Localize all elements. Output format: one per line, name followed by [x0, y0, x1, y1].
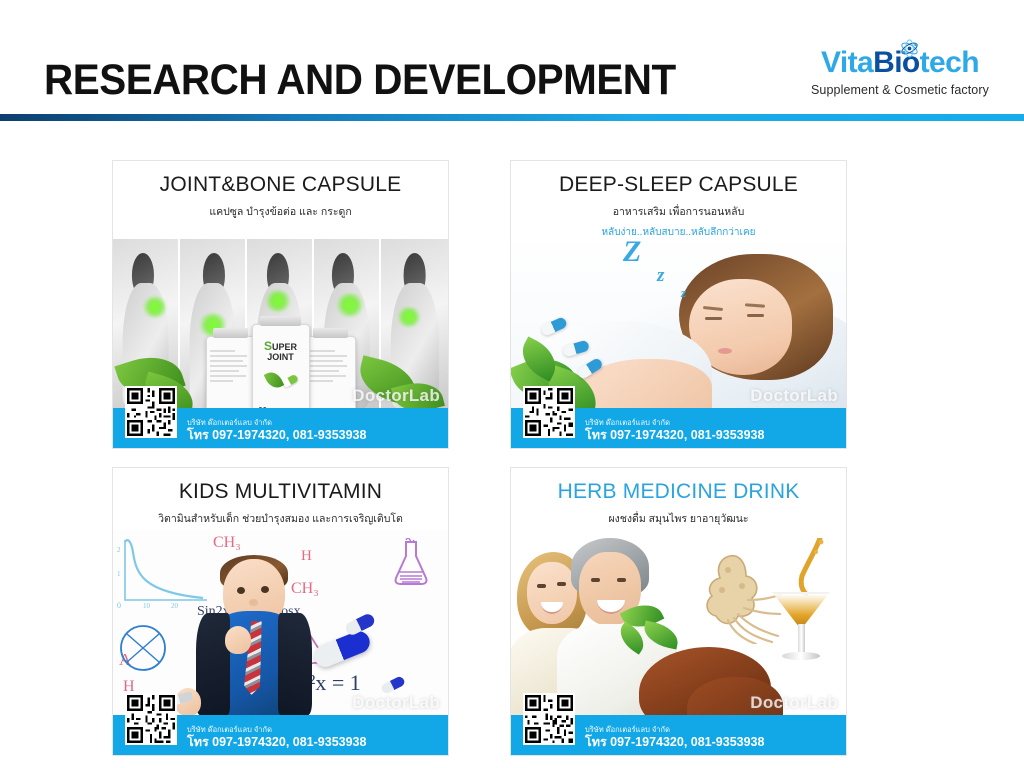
brand-wordmark: VitaBiotech: [800, 48, 1000, 78]
glass-stem: [798, 624, 805, 654]
svg-text:10: 10: [143, 602, 151, 610]
header-divider-rule: [0, 114, 1024, 121]
card-title: KIDS MULTIVITAMIN: [113, 480, 448, 504]
svg-text:20: 20: [171, 602, 179, 610]
doctorlab-watermark: DoctorLab: [352, 693, 440, 713]
svg-text:1: 1: [117, 570, 121, 578]
product-card-grid: SUPER JOINT 60 ALL NATURAL JOINT&BONE CA…: [0, 160, 1024, 760]
footer-company-name: บริษัท ด๊อกเตอร์แลบ จำกัด: [187, 419, 366, 427]
footer-contact: บริษัท ด๊อกเตอร์แลบ จำกัด โทร 097-197432…: [585, 726, 764, 751]
capsule-icon: [380, 675, 406, 695]
sleep-mark-3: z: [681, 285, 686, 301]
board-note-h: H: [301, 548, 312, 565]
page-title: RESEARCH AND DEVELOPMENT: [44, 56, 676, 105]
card-heading-kids-multivitamin: KIDS MULTIVITAMIN วิตามินสำหรับเด็ก ช่วย…: [113, 480, 448, 527]
qr-code-icon[interactable]: [125, 386, 177, 438]
doctorlab-watermark: DoctorLab: [750, 693, 838, 713]
board-note-ch3-top: CH₃: [213, 534, 241, 552]
product-name-line2: JOINT: [267, 352, 294, 362]
footer-contact: บริษัท ด๊อกเตอร์แลบ จำกัด โทร 097-197432…: [187, 419, 366, 444]
couple-and-herbs-photo: [511, 532, 846, 715]
brand-logo: VitaBiotech Supplement & Cosmetic factor…: [800, 48, 1000, 97]
glass-base: [782, 652, 820, 660]
atom-icon: [900, 39, 919, 58]
card-subtitle: อาหารเสริม เพื่อการนอนหลับ: [511, 203, 846, 220]
product-card-deep-sleep[interactable]: Z z z DEEP-SLEEP CAPSULE อาหารเสริม เพื่…: [510, 160, 847, 449]
card-subtitle: แคปซูล บำรุงข้อต่อ และ กระดูก: [113, 203, 448, 220]
card-subtitle: ผงชงดื่ม สมุนไพร ยาอายุวัฒนะ: [511, 510, 846, 527]
slide-header: RESEARCH AND DEVELOPMENT VitaBiotech Sup…: [0, 0, 1024, 128]
doctorlab-watermark: DoctorLab: [352, 386, 440, 406]
brand-tagline: Supplement & Cosmetic factory: [800, 83, 1000, 97]
card-title: DEEP-SLEEP CAPSULE: [511, 173, 846, 197]
footer-phone: โทร 097-1974320, 081-9353938: [585, 427, 764, 444]
doctorlab-watermark: DoctorLab: [750, 386, 838, 406]
product-card-joint-bone[interactable]: SUPER JOINT 60 ALL NATURAL JOINT&BONE CA…: [112, 160, 449, 449]
whiteboard-photo: 0 10 20 2 1 CH₃ C = C H CH₃ Sin2x = 2sin…: [113, 530, 448, 715]
footer-phone: โทร 097-1974320, 081-9353938: [187, 734, 366, 751]
brand-name-part3: tech: [920, 46, 979, 79]
circle-sketch: [117, 622, 171, 674]
card-heading-herb-drink: HERB MEDICINE DRINK ผงชงดื่ม สมุนไพร ยาอ…: [511, 480, 846, 527]
woman-face-shape: [527, 562, 577, 624]
card-subtitle: วิตามินสำหรับเด็ก ช่วยบำรุงสมอง และการเจ…: [113, 510, 448, 527]
card-artwork-deep-sleep: Z z z DEEP-SLEEP CAPSULE อาหารเสริม เพื่…: [511, 161, 846, 448]
card-heading-joint-bone: JOINT&BONE CAPSULE แคปซูล บำรุงข้อต่อ แล…: [113, 173, 448, 220]
footer-contact: บริษัท ด๊อกเตอร์แลบ จำกัด โทร 097-197432…: [585, 419, 764, 444]
ginseng-root-icon: [686, 552, 782, 644]
brand-name-part1: Vita: [821, 46, 873, 79]
footer-company-name: บริษัท ด๊อกเตอร์แลบ จำกัด: [187, 726, 366, 734]
board-note-ch3-bottom: CH₃: [291, 580, 319, 598]
product-name-line1: UPER: [272, 342, 297, 352]
card-artwork-joint-bone: SUPER JOINT 60 ALL NATURAL JOINT&BONE CA…: [113, 161, 448, 448]
card-title: HERB MEDICINE DRINK: [511, 480, 846, 504]
card-title: JOINT&BONE CAPSULE: [113, 173, 448, 197]
sleep-mark-1: Z: [623, 235, 641, 269]
card-heading-deep-sleep: DEEP-SLEEP CAPSULE อาหารเสริม เพื่อการนอ…: [511, 173, 846, 240]
qr-code-icon[interactable]: [523, 386, 575, 438]
sleeping-woman-photo: Z z z: [511, 233, 846, 408]
footer-contact: บริษัท ด๊อกเตอร์แลบ จำกัด โทร 097-197432…: [187, 726, 366, 751]
footer-company-name: บริษัท ด๊อกเตอร์แลบ จำกัด: [585, 726, 764, 734]
pouring-liquid-icon: [790, 538, 824, 596]
qr-code-icon[interactable]: [125, 693, 177, 745]
product-card-kids-multivitamin[interactable]: 0 10 20 2 1 CH₃ C = C H CH₃ Sin2x = 2sin…: [112, 467, 449, 756]
card-artwork-herb-drink: HERB MEDICINE DRINK ผงชงดื่ม สมุนไพร ยาอ…: [511, 468, 846, 755]
boy-torso: [198, 611, 310, 715]
hand-shape: [225, 626, 251, 654]
decay-curve-sketch: 0 10 20 2 1: [117, 536, 209, 610]
svg-text:0: 0: [117, 601, 121, 610]
footer-phone: โทร 097-1974320, 081-9353938: [585, 734, 764, 751]
card-subtitle-secondary: หลับง่าย..หลับสบาย..หลับลึกกว่าเคย: [511, 225, 846, 240]
product-card-herb-drink[interactable]: HERB MEDICINE DRINK ผงชงดื่ม สมุนไพร ยาอ…: [510, 467, 847, 756]
qr-code-icon[interactable]: [523, 693, 575, 745]
sleep-mark-2: z: [657, 265, 664, 287]
card-artwork-kids-multivitamin: 0 10 20 2 1 CH₃ C = C H CH₃ Sin2x = 2sin…: [113, 468, 448, 755]
svg-text:2: 2: [117, 546, 121, 554]
footer-company-name: บริษัท ด๊อกเตอร์แลบ จำกัด: [585, 419, 764, 427]
flask-sketch: [390, 538, 432, 586]
product-name: SUPER JOINT: [253, 340, 309, 362]
footer-phone: โทร 097-1974320, 081-9353938: [187, 427, 366, 444]
